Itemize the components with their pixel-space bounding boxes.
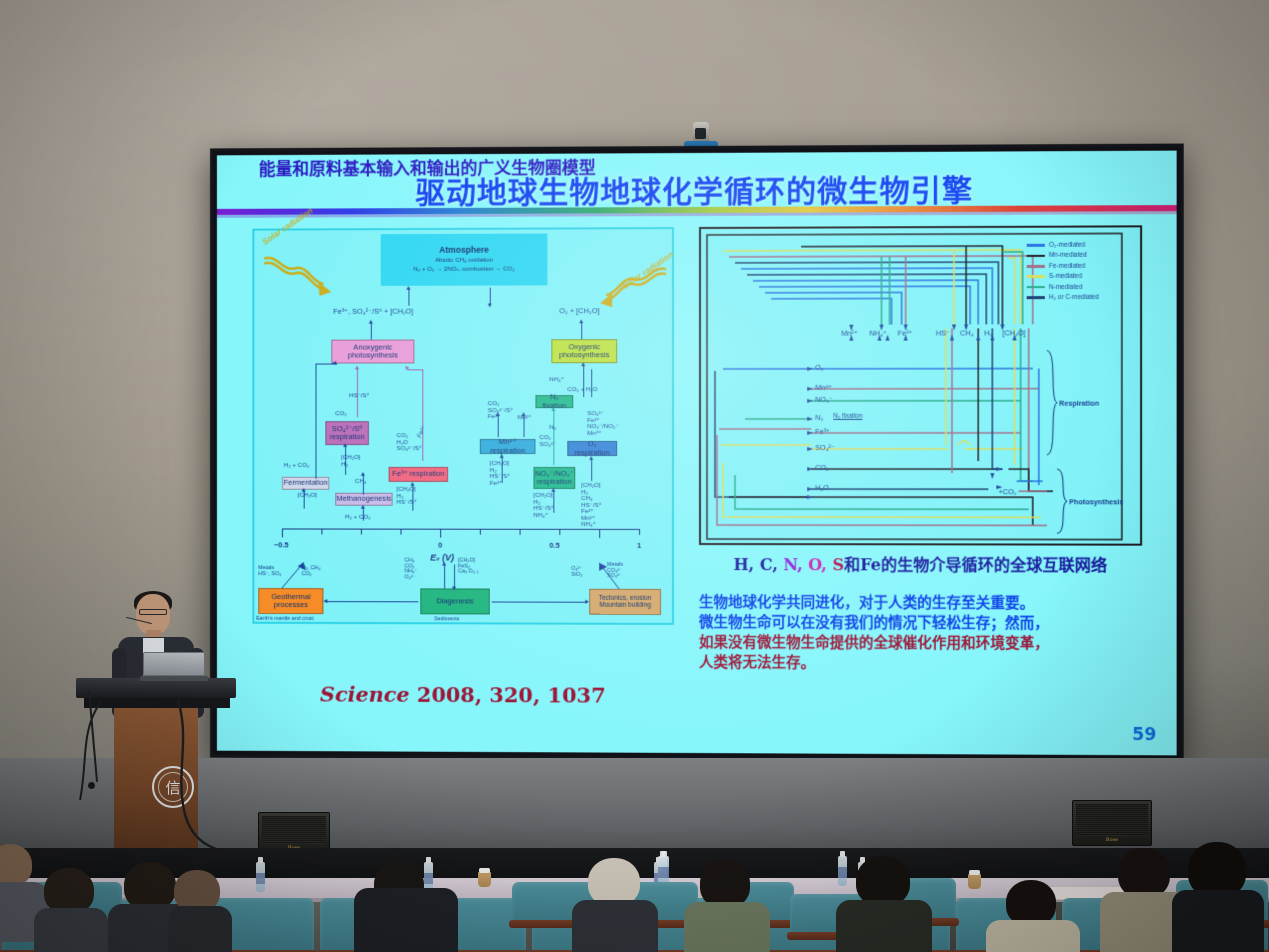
mic-cable (62, 700, 112, 820)
legend-item-fe: Fe-mediated (1027, 262, 1132, 269)
node-hs: HS⁻ (936, 328, 950, 337)
legend-item-h2c: H₂ or C-mediated (1027, 294, 1132, 301)
box-anoxygenic-photosynthesis: Anoxygenic photosynthesis (331, 340, 414, 364)
node-o2: O₂ (815, 363, 823, 372)
redox-axis (282, 528, 639, 530)
body-line-1: 生物地球化学共同进化，对于人类的生存至关重要。 (699, 593, 1152, 614)
axis-tick-1: 1 (637, 541, 641, 550)
node-h2o: H₂O (815, 483, 829, 492)
brace-respiration-icon (1045, 348, 1057, 460)
box-fe3-respiration: Fe³⁺ respiration (389, 467, 448, 482)
legend-swatch-h2c (1027, 296, 1045, 299)
legend-item-n: N-mediated (1027, 283, 1132, 290)
slide-page-number: 59 (1132, 725, 1156, 745)
label-n2-fixation: N₂ fixation (833, 413, 862, 420)
water-bottle (838, 856, 847, 886)
water-bottle (256, 862, 265, 892)
left-diagram-panel: Solar radiation Solar radiation Atmosphe… (252, 227, 674, 625)
axis-tick--0.5: −0.5 (274, 540, 288, 549)
node-fe3: Fe³⁺ (815, 427, 830, 436)
node-h2: H₂ (984, 328, 992, 337)
body-line-3: 如果没有微生物生命提供的全球催化作用和环境变革， (699, 633, 1152, 654)
label-mantle-crust: Earth's mantle and crust (256, 617, 313, 623)
atmosphere-title: Atmosphere (439, 245, 489, 255)
right-diagram-caption: H, C, N, O, S和Fe的生物介导循环的全球互联网络 (699, 551, 1142, 576)
box-sulfate-respiration: SO₄²⁻/S⁰ respiration (325, 421, 368, 445)
box-oxygenic-photosynthesis: Oxygenic photosynthesis (551, 339, 617, 363)
slide-body-text: 生物地球化学共同进化，对于人类的生存至关重要。 微生物生命可以在没有我们的情况下… (699, 593, 1152, 675)
solar-arrow-left-icon (262, 252, 331, 308)
brace-respiration-label: Respiration (1059, 399, 1099, 408)
legend-swatch-mn (1027, 254, 1045, 257)
axis-tick-0: 0 (438, 541, 442, 550)
axis-tick-0.5: 0.5 (549, 541, 559, 550)
brace-photosynthesis-label: Photosynthesis (1069, 497, 1123, 506)
stage-monitor-right: Bose (1072, 800, 1152, 846)
coffee-cup (478, 872, 491, 887)
node-mn4: Mn⁴⁺ (815, 383, 832, 392)
node-co2: CO₂ (815, 463, 829, 472)
network-legend: O₂-mediated Mn-mediated Fe-mediated S-me… (1027, 241, 1132, 304)
box-mn4-respiration: Mn⁴⁺ respiration (480, 439, 536, 454)
node-fe2: Fe²⁺ (898, 329, 913, 338)
body-line-4: 人类将无法生存。 (699, 653, 1152, 675)
legend-item-mn: Mn-mediated (1027, 252, 1132, 259)
box-tectonics: Tectonics, erosion Mountain building (589, 589, 661, 615)
atmosphere-line-1: Abiotic CH₄ oxidation (435, 258, 493, 265)
node-so4: SO₄²⁻ (815, 443, 835, 452)
citation-detail: 2008, 320, 1037 (410, 682, 606, 708)
node-ch2o: [CH₂O] (1002, 328, 1025, 337)
box-o2-respiration: O₂ respiration (567, 441, 617, 456)
legend-item-s: S-mediated (1027, 273, 1132, 280)
projection-screen: 驱动地球生物地球化学循环的微生物引擎 Solar radiation Solar… (210, 144, 1184, 763)
atmosphere-line-2: N₂ + O₂ → 2NOₓ, combustion → CO₂ (413, 267, 514, 274)
body-line-2: 微生物生命可以在没有我们的情况下轻松生存；然而， (699, 613, 1152, 634)
coffee-cup (968, 874, 981, 889)
legend-swatch-s (1027, 275, 1045, 278)
legend-swatch-n (1027, 286, 1045, 289)
box-nitrate-respiration: NO₃⁻/NO₂⁻ respiration (533, 467, 575, 489)
citation: Science 2008, 320, 1037 (252, 681, 674, 708)
speaker-glasses (139, 609, 167, 615)
power-cable (150, 700, 240, 860)
box-diagenesis: Diagenesis (420, 588, 489, 614)
box-atmosphere: Atmosphere Abiotic CH₄ oxidation N₂ + O₂… (381, 234, 548, 286)
laptop-icon (140, 652, 208, 682)
label-plus-co2: +CO₂ (998, 487, 1016, 496)
legend-swatch-o2 (1027, 244, 1045, 247)
node-no3: NO₃⁻ (815, 395, 833, 404)
left-flux-label: Fe³⁺, SO₄²⁻/S⁰ + [CH₂O] (333, 308, 413, 316)
node-nh4: NH₄⁺ (869, 329, 886, 338)
right-flux-label: O₂ + [CH₂O] (559, 307, 599, 315)
lecture-hall-room: 驱动地球生物地球化学循环的微生物引擎 Solar radiation Solar… (0, 0, 1269, 952)
legend-swatch-fe (1027, 265, 1045, 268)
node-n2: N₂ (815, 413, 823, 422)
brace-photosynthesis-icon (1055, 467, 1067, 539)
box-fermentation: Fermentation (282, 477, 329, 490)
node-mn2: Mn²⁺ (841, 329, 857, 338)
right-network-panel: Mn²⁺ NH₄⁺ Fe²⁺ HS⁻ CH₄ H₂ [CH₂O] O₂ Mn⁴⁺… (699, 225, 1142, 545)
label-sediments: Sediments (434, 617, 459, 623)
citation-journal: Science (320, 682, 410, 707)
presentation-slide: 驱动地球生物地球化学循环的微生物引擎 Solar radiation Solar… (217, 151, 1177, 756)
box-geothermal: Geothermal processes (258, 588, 323, 614)
legend-item-o2: O₂-mediated (1027, 241, 1132, 248)
node-ch4: CH₄ (960, 328, 973, 337)
solar-arrow-right-icon (598, 265, 668, 317)
